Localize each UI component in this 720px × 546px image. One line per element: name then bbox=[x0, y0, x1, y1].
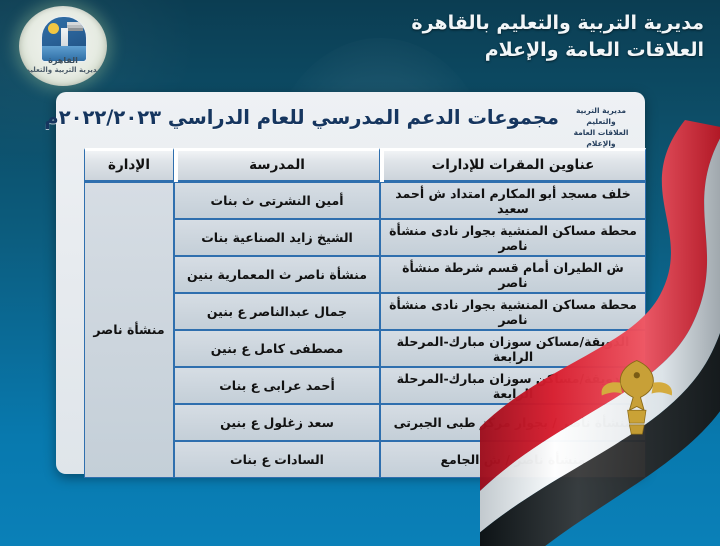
column-header-school: المدرسة bbox=[174, 148, 380, 182]
cell-school: منشأة ناصر ث المعمارية بنين bbox=[174, 256, 380, 293]
cell-school: أمين النشرتى ث بنات bbox=[174, 182, 380, 219]
cell-school: مصطفى كامل ع بنين bbox=[174, 330, 380, 367]
school-support-groups-table: عناوين المقرات للإدارات المدرسة الإدارة … bbox=[84, 148, 646, 478]
header-title-line2: العلاقات العامة والإعلام bbox=[411, 37, 704, 64]
page-title: مجموعات الدعم المدرسي للعام الدراسي ٢٠٢٢… bbox=[44, 106, 559, 129]
cairo-education-directorate-logo: القاهرة مديرية التربية والتعليم bbox=[19, 6, 107, 86]
cell-address: خلف مسجد أبو المكارم امتداد ش أحمد سعيد bbox=[380, 182, 646, 219]
cell-address: محطة مساكن المنشية بجوار نادى منشأة ناصر bbox=[380, 219, 646, 256]
cell-school: أحمد عرابى ع بنات bbox=[174, 367, 380, 404]
secondary-header-line2: العلاقات العامة والإعلام bbox=[561, 128, 641, 150]
cell-school: الشيخ زايد الصناعية بنات bbox=[174, 219, 380, 256]
logo-flag-icon bbox=[67, 22, 83, 31]
table-header-row: عناوين المقرات للإدارات المدرسة الإدارة bbox=[84, 148, 646, 182]
document-header: القاهرة مديرية التربية والتعليم مديرية ا… bbox=[0, 0, 720, 96]
cell-address: منشأة ناصر / ش الجامع bbox=[380, 441, 646, 478]
header-title-block: مديرية التربية والتعليم بالقاهرة العلاقا… bbox=[411, 10, 704, 64]
cell-school: السادات ع بنات bbox=[174, 441, 380, 478]
school-support-groups-table-wrapper: عناوين المقرات للإدارات المدرسة الإدارة … bbox=[84, 148, 646, 478]
cell-address: الدويقة/مساكن سوزان مبارك-المرحلة الرابع… bbox=[380, 367, 646, 404]
secondary-header-line1: مديرية التربية والتعليم bbox=[561, 106, 641, 128]
secondary-header: مديرية التربية والتعليم العلاقات العامة … bbox=[561, 106, 641, 150]
header-title-line1: مديرية التربية والتعليم بالقاهرة bbox=[411, 10, 704, 37]
cell-administration: منشأة ناصر bbox=[84, 182, 174, 478]
logo-caption-line1: القاهرة bbox=[19, 56, 107, 66]
column-header-administration: الإدارة bbox=[84, 148, 174, 182]
column-header-address: عناوين المقرات للإدارات bbox=[380, 148, 646, 182]
logo-caption-line2: مديرية التربية والتعليم bbox=[19, 66, 107, 75]
cell-school: جمال عبدالناصر ع بنين bbox=[174, 293, 380, 330]
table-row: خلف مسجد أبو المكارم امتداد ش أحمد سعيدأ… bbox=[84, 182, 646, 219]
cell-address: ش الطيران أمام قسم شرطة منشأة ناصر bbox=[380, 256, 646, 293]
cell-address: منشأة ناصر / بجوار مركز طبى الجبرتى bbox=[380, 404, 646, 441]
logo-sun-icon bbox=[48, 23, 59, 34]
logo-caption: القاهرة مديرية التربية والتعليم bbox=[19, 56, 107, 75]
title-row: مجموعات الدعم المدرسي للعام الدراسي ٢٠٢٢… bbox=[56, 100, 645, 146]
table-header: عناوين المقرات للإدارات المدرسة الإدارة bbox=[84, 148, 646, 182]
cell-school: سعد زغلول ع بنين bbox=[174, 404, 380, 441]
table-body: خلف مسجد أبو المكارم امتداد ش أحمد سعيدأ… bbox=[84, 182, 646, 478]
cell-address: الدويقة/مساكن سوزان مبارك-المرحلة الرابع… bbox=[380, 330, 646, 367]
cell-address: محطة مساكن المنشية بجوار نادى منشأة ناصر bbox=[380, 293, 646, 330]
document-page: القاهرة مديرية التربية والتعليم مديرية ا… bbox=[0, 0, 720, 546]
